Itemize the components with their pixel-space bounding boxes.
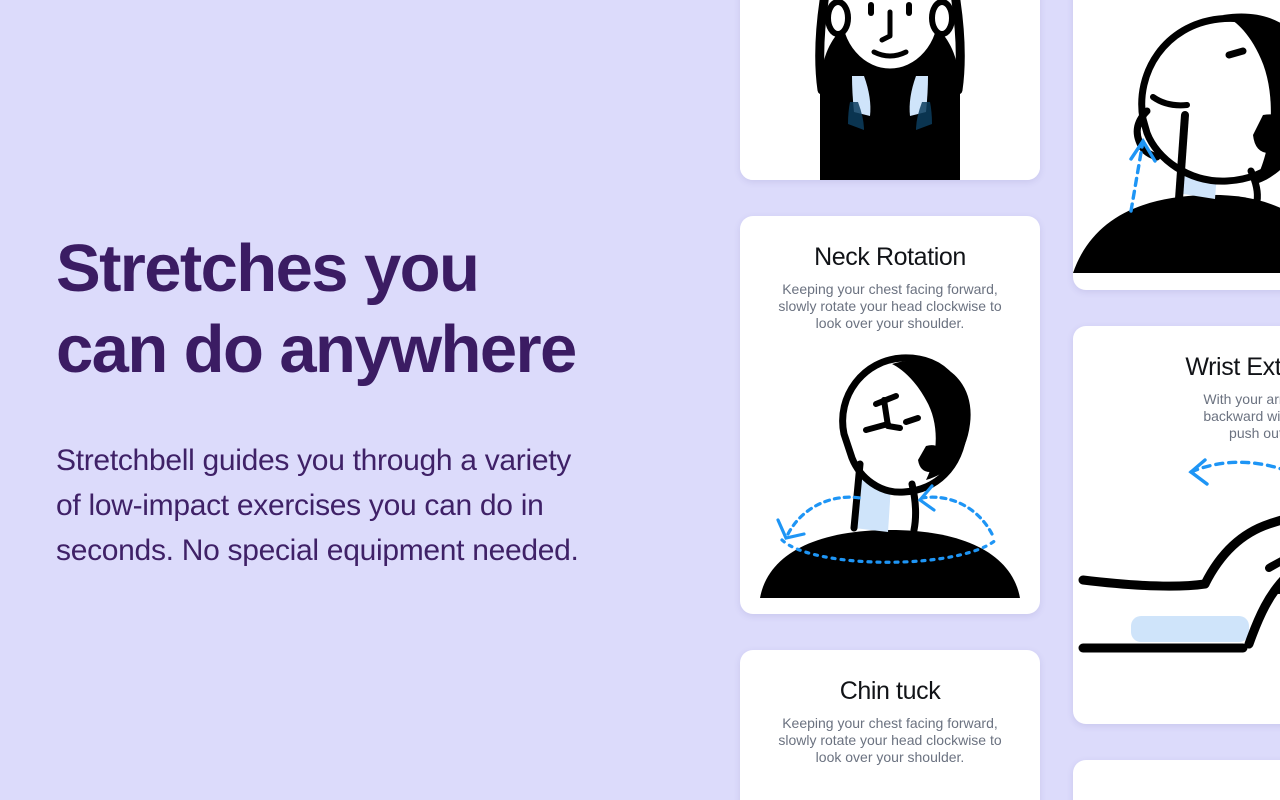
page-title: Stretches you can do anywhere — [56, 228, 676, 390]
exercise-card-neck-extension[interactable]: Neck Extension when you feel tension in … — [1073, 0, 1280, 290]
exercise-card-overhead-reach[interactable]: Overhead Reach Raise both arms overhead … — [740, 0, 1040, 180]
wrist-extension-figure-icon — [1073, 448, 1280, 698]
hero-section: Stretches you can do anywhere Stretchbel… — [56, 0, 676, 800]
card-description: Keeping your chest facing forward, slowl… — [762, 715, 1018, 766]
exercise-card-partial[interactable] — [1073, 760, 1280, 800]
card-text-block: Neck Rotation Keeping your chest facing … — [740, 216, 1040, 338]
card-title: Neck Rotation — [762, 242, 1018, 272]
overhead-arms-figure-icon — [740, 0, 1040, 180]
exercise-card-neck-rotation[interactable]: Neck Rotation Keeping your chest facing … — [740, 216, 1040, 614]
card-title: Chin tuck — [762, 676, 1018, 706]
card-column-middle: Overhead Reach Raise both arms overhead … — [740, 0, 1040, 800]
hero-subtitle: Stretchbell guides you through a variety… — [56, 438, 671, 573]
exercise-card-chin-tuck[interactable]: Chin tuck Keeping your chest facing forw… — [740, 650, 1040, 800]
neck-rotation-figure-icon — [740, 338, 1040, 598]
card-description: With your arms relaxed, slo backward wit… — [1095, 391, 1280, 442]
card-title: Wrist Extension — [1165, 352, 1280, 382]
card-column-right: Neck Extension when you feel tension in … — [1073, 0, 1280, 800]
card-text-block: Chin tuck Keeping your chest facing forw… — [740, 650, 1040, 772]
neck-extension-figure-icon — [1073, 0, 1280, 273]
exercise-card-wrist-extension[interactable]: Wrist Extension With your arms relaxed, … — [1073, 326, 1280, 724]
card-text-block: Wrist Extension With your arms relaxed, … — [1073, 326, 1280, 448]
card-description: Keeping your chest facing forward, slowl… — [762, 281, 1018, 332]
